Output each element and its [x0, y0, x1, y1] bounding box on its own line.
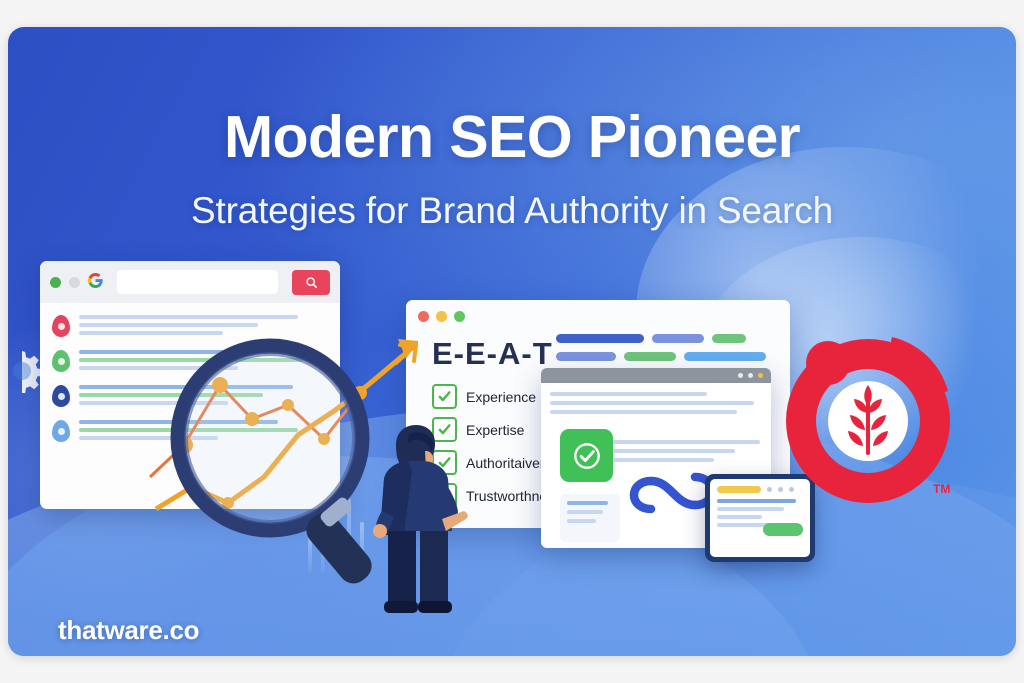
list-item[interactable] — [52, 315, 328, 337]
eeat-toolbar — [406, 300, 790, 332]
result-lines — [79, 315, 328, 337]
check-circle-icon — [560, 429, 613, 482]
window-dot-red — [418, 311, 429, 322]
content-toolbar — [541, 368, 771, 383]
serp-results-list — [40, 303, 340, 442]
window-dot-green — [454, 311, 465, 322]
item-label: Expertise — [466, 422, 524, 438]
circle-pin-lightblue-icon — [52, 420, 70, 442]
window-dot-green — [50, 277, 61, 288]
result-lines — [79, 385, 328, 407]
search-results-window[interactable] — [40, 261, 340, 509]
checkbox-checked[interactable] — [432, 450, 457, 475]
window-dot-1 — [738, 373, 743, 378]
result-lines — [79, 420, 328, 442]
item-label: Experience — [466, 389, 536, 405]
checkbox-checked[interactable] — [432, 384, 457, 409]
list-item[interactable] — [52, 385, 328, 407]
window-dot-2 — [748, 373, 753, 378]
window-dot-gray — [69, 277, 80, 288]
checkbox-checked[interactable] — [432, 417, 457, 442]
promo-banner: Modern SEO Pioneer Strategies for Brand … — [8, 27, 1016, 656]
eeat-decorative-bars — [556, 334, 771, 370]
screenshot-root: Modern SEO Pioneer Strategies for Brand … — [0, 0, 1024, 683]
serp-toolbar — [40, 261, 340, 303]
check-pin-green-icon — [52, 350, 70, 372]
result-lines — [79, 350, 328, 372]
window-dot-yellow — [436, 311, 447, 322]
check-icon — [437, 422, 452, 437]
brand-wordmark: thatware.co — [58, 615, 199, 646]
check-icon — [437, 389, 452, 404]
highlight-bar — [717, 486, 761, 493]
content-card — [560, 494, 620, 542]
green-pill — [763, 523, 803, 536]
google-g-icon — [88, 273, 103, 291]
eeat-heading: E-E-A-T — [432, 336, 553, 372]
page-title: Modern SEO Pioneer — [8, 103, 1016, 171]
list-item[interactable] — [52, 350, 328, 372]
trademark-symbol: TM — [933, 482, 950, 496]
checkbox-checked[interactable] — [432, 483, 457, 508]
location-pin-red-icon — [52, 315, 70, 337]
search-button[interactable] — [292, 270, 330, 295]
circle-pin-navy-icon — [52, 385, 70, 407]
window-dot-3 — [758, 373, 763, 378]
search-icon — [305, 276, 318, 289]
list-item[interactable] — [52, 420, 328, 442]
check-icon — [437, 455, 452, 470]
search-input[interactable] — [117, 270, 278, 294]
page-subtitle: Strategies for Brand Authority in Search — [8, 190, 1016, 232]
check-icon — [437, 488, 452, 503]
bar-silhouette-group — [308, 498, 364, 572]
